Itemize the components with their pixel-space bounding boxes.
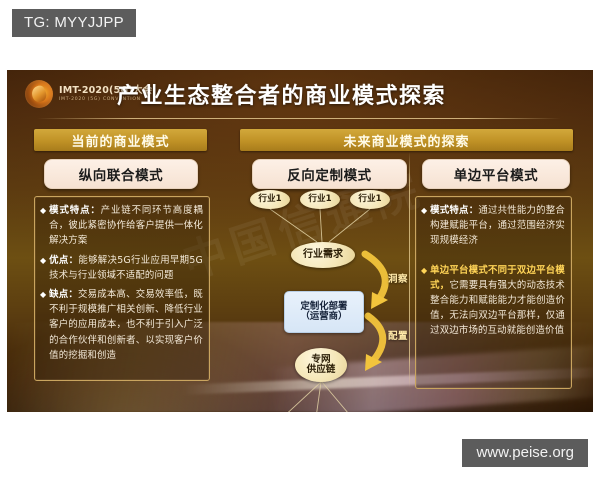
insight-arrow-icon — [365, 254, 385, 300]
bullet-label: 模式特点： — [430, 205, 478, 216]
bullet-label: 模式特点： — [49, 205, 101, 216]
left-bullet-list: ◆ 模式特点：产业链不同环节高度耦合，彼此紧密协作给客户提供一体化解决方案 ◆ … — [35, 197, 209, 371]
bullet-label: 缺点： — [49, 289, 78, 300]
node-industry-demand: 行业需求 — [291, 242, 355, 268]
tg-tag-overlay: TG: MYYJJPP — [12, 9, 136, 37]
pill-vertical-alliance: 纵向联合模式 — [44, 159, 198, 189]
banner-current-model: 当前的商业模式 — [34, 129, 207, 151]
deploy-node-text: 定制化部署 （运营商） — [301, 302, 348, 322]
bullet-item: ◆ 模式特点：通过共性能力的整合构建赋能平台，通过范围经济实现规模经济 — [421, 203, 565, 249]
node-industry-1: 行业1 — [250, 190, 290, 209]
bullet-item: ◆ 优点：能够解决5G行业应用早期5G技术与行业领域不适配的问题 — [40, 253, 203, 283]
banner-future-model: 未来商业模式的探索 — [240, 129, 573, 151]
bullet-item: ◆ 缺点：交易成本高、交易效率低，既不利于规模推广相关创新、降低行业客户的应用成… — [40, 287, 203, 363]
center-diagram: 行业1 行业1 行业1 行业需求 定制化部署 （运营商） 专网 供应链 建设 — [212, 188, 412, 398]
bullet-text: 模式特点：产业链不同环节高度耦合，彼此紧密协作给客户提供一体化解决方案 — [49, 203, 203, 249]
chain-node-line2: 供应链 — [307, 365, 336, 375]
bullet-text: 缺点：交易成本高、交易效率低，既不利于规模推广相关创新、降低行业客户的应用成本，… — [49, 287, 203, 363]
bullet-text: 优点：能够解决5G行业应用早期5G技术与行业领域不适配的问题 — [49, 253, 203, 283]
flame-icon — [25, 80, 53, 108]
header-divider — [37, 118, 561, 119]
diamond-icon: ◆ — [40, 203, 46, 249]
pill-single-sided-platform: 单边平台模式 — [422, 159, 570, 189]
label-config: 配置 — [388, 328, 408, 342]
config-arrow-icon — [368, 316, 383, 362]
bullet-text: 单边平台模式不同于双边平台模式，它需要具有强大的动态技术整合能力和赋能能力才能创… — [430, 263, 565, 339]
chain-node-text: 专网 供应链 — [307, 355, 336, 375]
slide-header: IMT-2020(5G)大会 IMT-2020 (5G) CONVENTION … — [7, 70, 593, 118]
bullet-item: ◆ 模式特点：产业链不同环节高度耦合，彼此紧密协作给客户提供一体化解决方案 — [40, 203, 203, 249]
presentation-slide: 中国信通院 IMT-2020(5G)大会 IMT-2020 (5G) CONVE… — [7, 70, 593, 412]
site-watermark: www.peise.org — [462, 439, 588, 467]
label-insight: 洞察 — [388, 271, 408, 285]
slide-title: 产业生态整合者的商业模式探索 — [117, 78, 446, 110]
diamond-icon: ◆ — [421, 203, 427, 249]
node-industry-2: 行业1 — [300, 190, 340, 209]
node-custom-deployment: 定制化部署 （运营商） — [284, 291, 364, 333]
screenshot-root: TG: MYYJJPP 中国信通院 IMT-2020(5G)大会 IMT-202… — [0, 0, 600, 480]
diamond-icon: ◆ — [40, 253, 46, 283]
bullet-label: 优点： — [49, 255, 78, 266]
diamond-icon: ◆ — [40, 287, 46, 363]
right-text-panel: ◆ 模式特点：通过共性能力的整合构建赋能平台，通过范围经济实现规模经济 ◆ 单边… — [415, 196, 572, 389]
left-text-panel: ◆ 模式特点：产业链不同环节高度耦合，彼此紧密协作给客户提供一体化解决方案 ◆ … — [34, 196, 210, 381]
deploy-node-line2: （运营商） — [301, 312, 348, 322]
diamond-icon: ◆ — [421, 263, 427, 339]
bullet-item: ◆ 单边平台模式不同于双边平台模式，它需要具有强大的动态技术整合能力和赋能能力才… — [421, 263, 565, 339]
node-private-network-supply-chain: 专网 供应链 — [295, 348, 347, 382]
pill-reverse-customization: 反向定制模式 — [252, 159, 407, 189]
right-bullet-list: ◆ 模式特点：通过共性能力的整合构建赋能平台，通过范围经济实现规模经济 ◆ 单边… — [416, 197, 571, 347]
node-industry-3: 行业1 — [350, 190, 390, 209]
bullet-text: 模式特点：通过共性能力的整合构建赋能平台，通过范围经济实现规模经济 — [430, 203, 565, 249]
bullet-body: 它需要具有强大的动态技术整合能力和赋能能力才能创造价值，无法向双边平台那样，仅通… — [430, 280, 565, 337]
